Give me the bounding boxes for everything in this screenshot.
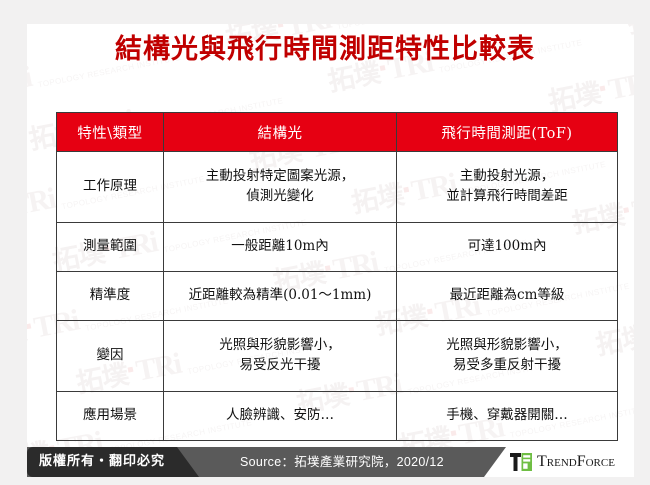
cell-line: 手機、穿戴器開關…: [401, 406, 613, 426]
trendforce-mark-icon: [510, 453, 532, 471]
cell-tof: 主動投射光源，並計算飛行時間差距: [397, 152, 618, 223]
trendforce-logo: TrendForce: [484, 447, 634, 477]
cell-feature: 精準度: [57, 272, 164, 321]
cell-line: 一般距離10m內: [168, 237, 392, 257]
slide-canvas: 拓墣TRiTOPOLOGY RESEARCH INSTITUTE拓墣TRiTOP…: [0, 0, 650, 485]
cell-structured-light: 光照與形貌影響小，易受反光干擾: [164, 321, 397, 392]
cell-tof: 可達100m內: [397, 223, 618, 272]
footer-bar: Source：拓墣產業研究院，2020/12 版權所有・翻印必究 TrendFo…: [27, 447, 634, 477]
cell-tof: 最近距離為cm等級: [397, 272, 618, 321]
cell-line: 易受反光干擾: [168, 356, 392, 376]
cell-line: 主動投射特定圖案光源，: [168, 167, 392, 187]
cell-line: 最近距離為cm等級: [401, 286, 613, 306]
table-body: 工作原理主動投射特定圖案光源，偵測光變化主動投射光源，並計算飛行時間差距測量範圍…: [57, 152, 618, 441]
page-title: 結構光與飛行時間測距特性比較表: [0, 27, 650, 66]
header-cell-feature: 特性\類型: [57, 113, 164, 152]
cell-line: 光照與形貌影響小，: [401, 336, 613, 356]
header-cell-tof: 飛行時間測距(ToF): [397, 113, 618, 152]
comparison-table: 特性\類型 結構光 飛行時間測距(ToF) 工作原理主動投射特定圖案光源，偵測光…: [56, 112, 618, 441]
cell-structured-light: 主動投射特定圖案光源，偵測光變化: [164, 152, 397, 223]
cell-tof: 光照與形貌影響小，易受多重反射干擾: [397, 321, 618, 392]
cell-line: 精準度: [61, 286, 159, 306]
cell-structured-light: 近距離較為精準(0.01～1mm): [164, 272, 397, 321]
cell-structured-light: 一般距離10m內: [164, 223, 397, 272]
cell-line: 主動投射光源，: [401, 167, 613, 187]
table-row: 測量範圍一般距離10m內可達100m內: [57, 223, 618, 272]
cell-line: 測量範圍: [61, 237, 159, 257]
header-cell-structured-light: 結構光: [164, 113, 397, 152]
cell-feature: 變因: [57, 321, 164, 392]
comparison-table-container: 特性\類型 結構光 飛行時間測距(ToF) 工作原理主動投射特定圖案光源，偵測光…: [56, 112, 608, 441]
cell-line: 偵測光變化: [168, 187, 392, 207]
copyright-label: 版權所有・翻印必究: [27, 447, 177, 477]
cell-line: 變因: [61, 346, 159, 366]
table-row: 工作原理主動投射特定圖案光源，偵測光變化主動投射光源，並計算飛行時間差距: [57, 152, 618, 223]
table-header-row: 特性\類型 結構光 飛行時間測距(ToF): [57, 113, 618, 152]
table-row: 應用場景人臉辨識、安防…手機、穿戴器開關…: [57, 392, 618, 441]
cell-tof: 手機、穿戴器開關…: [397, 392, 618, 441]
table-head: 特性\類型 結構光 飛行時間測距(ToF): [57, 113, 618, 152]
cell-line: 可達100m內: [401, 237, 613, 257]
table-row: 精準度近距離較為精準(0.01～1mm)最近距離為cm等級: [57, 272, 618, 321]
slide-footer: Source：拓墣產業研究院，2020/12 版權所有・翻印必究 TrendFo…: [0, 437, 650, 485]
cell-line: 易受多重反射干擾: [401, 356, 613, 376]
cell-line: 光照與形貌影響小，: [168, 336, 392, 356]
cell-feature: 測量範圍: [57, 223, 164, 272]
cell-line: 工作原理: [61, 177, 159, 197]
table-row: 變因光照與形貌影響小，易受反光干擾光照與形貌影響小，易受多重反射干擾: [57, 321, 618, 392]
cell-line: 並計算飛行時間差距: [401, 187, 613, 207]
cell-line: 近距離較為精準(0.01～1mm): [168, 286, 392, 306]
cell-line: 應用場景: [61, 406, 159, 426]
cell-feature: 應用場景: [57, 392, 164, 441]
cell-structured-light: 人臉辨識、安防…: [164, 392, 397, 441]
cell-line: 人臉辨識、安防…: [168, 406, 392, 426]
cell-feature: 工作原理: [57, 152, 164, 223]
trendforce-wordmark: TrendForce: [537, 453, 615, 471]
source-label: Source：拓墣產業研究院，2020/12: [177, 447, 507, 477]
